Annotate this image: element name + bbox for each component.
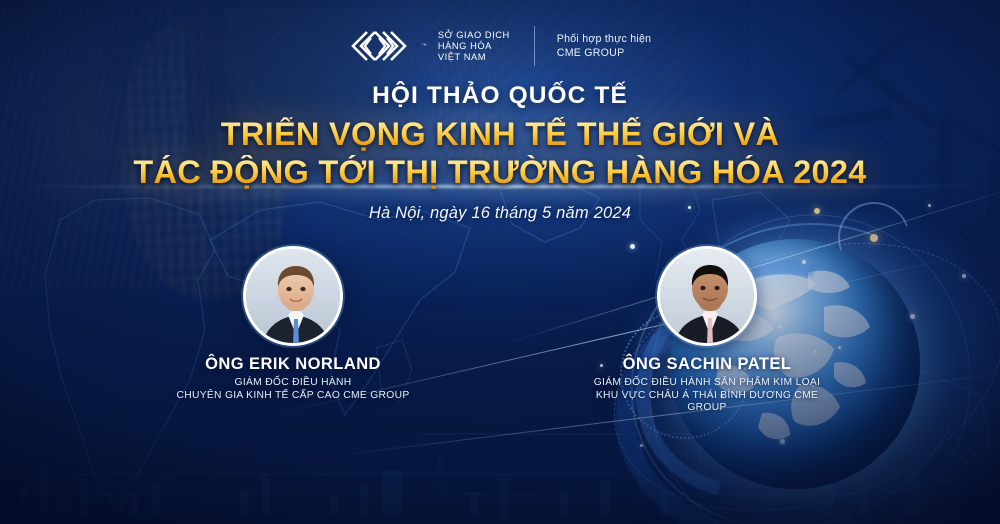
- header-branding: ™ SỞ GIAO DỊCH HÀNG HÓA VIỆT NAM Phối hợ…: [0, 26, 1000, 66]
- partner-block: Phối hợp thực hiện CME GROUP: [557, 32, 652, 60]
- speaker-name: ÔNG ERIK NORLAND: [168, 355, 418, 374]
- speaker-role-line1: GIÁM ĐỐC ĐIỀU HÀNH: [168, 377, 418, 390]
- speaker-role: GIÁM ĐỐC ĐIỀU HÀNH SẢN PHẨM KIM LOẠI KHU…: [582, 377, 832, 415]
- partner-name: CME GROUP: [557, 46, 652, 60]
- header-divider: [534, 26, 535, 66]
- exchange-name: SỞ GIAO DỊCH HÀNG HÓA VIỆT NAM: [438, 30, 510, 63]
- partner-label: Phối hợp thực hiện: [557, 32, 652, 46]
- exchange-name-line2: HÀNG HÓA: [438, 41, 510, 52]
- speaker-name: ÔNG SACHIN PATEL: [582, 355, 832, 374]
- exchange-name-line1: SỞ GIAO DỊCH: [438, 30, 510, 41]
- event-eyebrow: HỘI THẢO QUỐC TẾ: [0, 82, 1000, 110]
- avatar: [243, 246, 343, 346]
- speaker-card: ÔNG SACHIN PATEL GIÁM ĐỐC ĐIỀU HÀNH SẢN …: [582, 246, 832, 415]
- vietnam-commodity-exchange-logo-icon: [349, 29, 413, 63]
- event-poster: ™ SỞ GIAO DỊCH HÀNG HÓA VIỆT NAM Phối hợ…: [0, 0, 1000, 524]
- event-title-line2: TÁC ĐỘNG TỚI THỊ TRƯỜNG HÀNG HÓA 2024: [0, 155, 1000, 189]
- speaker-card: ÔNG ERIK NORLAND GIÁM ĐỐC ĐIỀU HÀNH CHUY…: [168, 246, 418, 415]
- speaker-list: ÔNG ERIK NORLAND GIÁM ĐỐC ĐIỀU HÀNH CHUY…: [0, 246, 1000, 415]
- exchange-logo: ™ SỞ GIAO DỊCH HÀNG HÓA VIỆT NAM: [349, 29, 510, 63]
- event-title-line1: TRIỂN VỌNG KINH TẾ THẾ GIỚI VÀ: [0, 117, 1000, 151]
- trademark-symbol: ™: [422, 43, 427, 49]
- exchange-name-line3: VIỆT NAM: [438, 52, 510, 63]
- avatar: [657, 246, 757, 346]
- speaker-role-line2: CHUYÊN GIA KINH TẾ CẤP CAO CME GROUP: [168, 390, 418, 403]
- event-date: Hà Nội, ngày 16 tháng 5 năm 2024: [0, 204, 1000, 223]
- speaker-role: GIÁM ĐỐC ĐIỀU HÀNH CHUYÊN GIA KINH TẾ CẤ…: [168, 377, 418, 402]
- speaker-role-line1: GIÁM ĐỐC ĐIỀU HÀNH SẢN PHẨM KIM LOẠI: [582, 377, 832, 390]
- speaker-role-line2: KHU VỰC CHÂU Á THÁI BÌNH DƯƠNG CME GROUP: [582, 390, 832, 415]
